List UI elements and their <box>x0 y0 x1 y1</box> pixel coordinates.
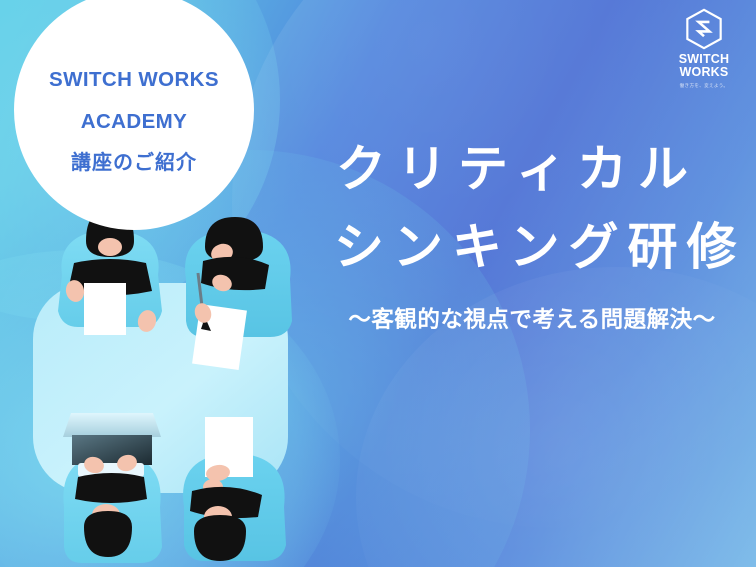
logo-wordmark-line-2: WORKS <box>679 66 730 79</box>
logo-wordmark-line-1: SWITCH <box>679 53 730 66</box>
team-meeting-illustration <box>0 195 300 567</box>
badge-line-academy: ACADEMY <box>81 112 187 133</box>
course-banner: SWITCH WORKS ACADEMY 講座のご紹介 クリティカル シンキング… <box>0 0 756 567</box>
headline-block: クリティカル シンキング研修 〜客観的な視点で考える問題解決〜 <box>330 144 740 334</box>
badge-line-course-intro: 講座のご紹介 <box>71 153 197 173</box>
badge-line-switch-works: SWITCH WORKS <box>49 70 219 91</box>
person-bottom-left <box>63 413 162 563</box>
academy-badge: SWITCH WORKS ACADEMY 講座のご紹介 <box>14 0 254 230</box>
logo-tagline: 働き方を、変えよう。 <box>680 83 729 89</box>
course-subtitle: 〜客観的な視点で考える問題解決〜 <box>330 302 740 334</box>
hexagon-s-logo-icon <box>684 8 724 50</box>
course-title-line-2: シンキング研修 <box>330 222 740 272</box>
switch-works-logo: SWITCH WORKS 働き方を、変えよう。 <box>665 8 743 89</box>
course-title-line-1: クリティカル <box>330 144 740 194</box>
logo-wordmark: SWITCH WORKS <box>679 53 730 80</box>
